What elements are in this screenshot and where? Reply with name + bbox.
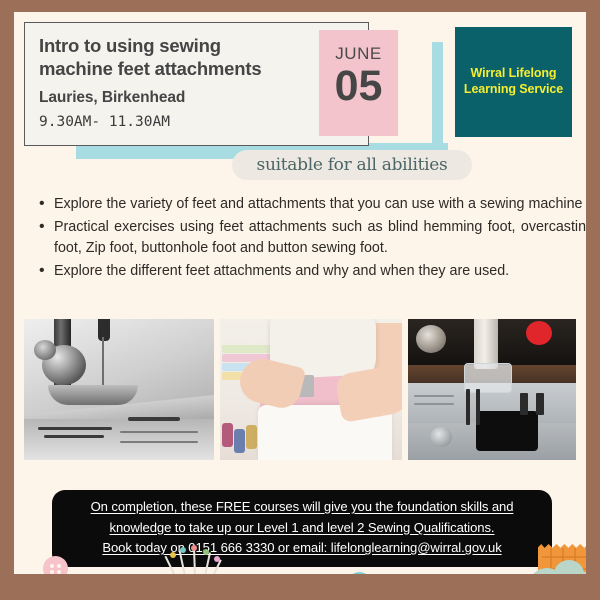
ground-strip [14,574,586,588]
title-line-2: machine feet attachments [39,58,261,79]
date-badge: JUNE 05 [319,30,398,136]
logo-line-2: Learning Service [464,82,563,96]
poster-frame: Intro to using sewing machine feet attac… [0,0,600,600]
callout-line-2: knowledge to take up our Level 1 and lev… [64,519,540,538]
list-item: Explore the different feet attachments a… [54,261,586,281]
teal-accent-bar-vertical [432,42,443,159]
suitability-ribbon-text: suitable for all abilities [257,155,448,175]
course-detail-list: Explore the variety of feet and attachme… [32,194,586,284]
callout-banner: On completion, these FREE courses will g… [52,490,552,567]
suitability-ribbon: suitable for all abilities [232,150,472,180]
page-title: Intro to using sewing machine feet attac… [39,35,354,80]
logo-text: Wirral Lifelong Learning Service [464,66,563,97]
photo-hands-sewing-pink-fabric-on-white-machine [220,319,402,460]
list-item: Explore the variety of feet and attachme… [54,194,586,214]
photo-strip [24,319,576,460]
course-title-card: Intro to using sewing machine feet attac… [24,22,369,146]
callout-line-3: Book today on 0151 666 3330 or email: li… [64,539,540,558]
organisation-logo: Wirral Lifelong Learning Service [455,27,572,137]
date-month: JUNE [319,30,398,64]
time-text: 9.30AM- 11.30AM [39,114,354,130]
title-line-1: Intro to using sewing [39,35,221,56]
poster-canvas: Intro to using sewing machine feet attac… [14,12,586,588]
date-day: 05 [319,64,398,108]
photo-needle-plate-with-clear-presser-foot [408,319,576,460]
logo-line-1: Wirral Lifelong [471,66,557,80]
venue-text: Lauries, Birkenhead [39,89,354,107]
list-item: Practical exercises using feet attachmen… [54,217,586,258]
callout-line-1: On completion, these FREE courses will g… [64,498,540,517]
photo-sewing-machine-presser-foot-closeup-greyscale [24,319,214,460]
